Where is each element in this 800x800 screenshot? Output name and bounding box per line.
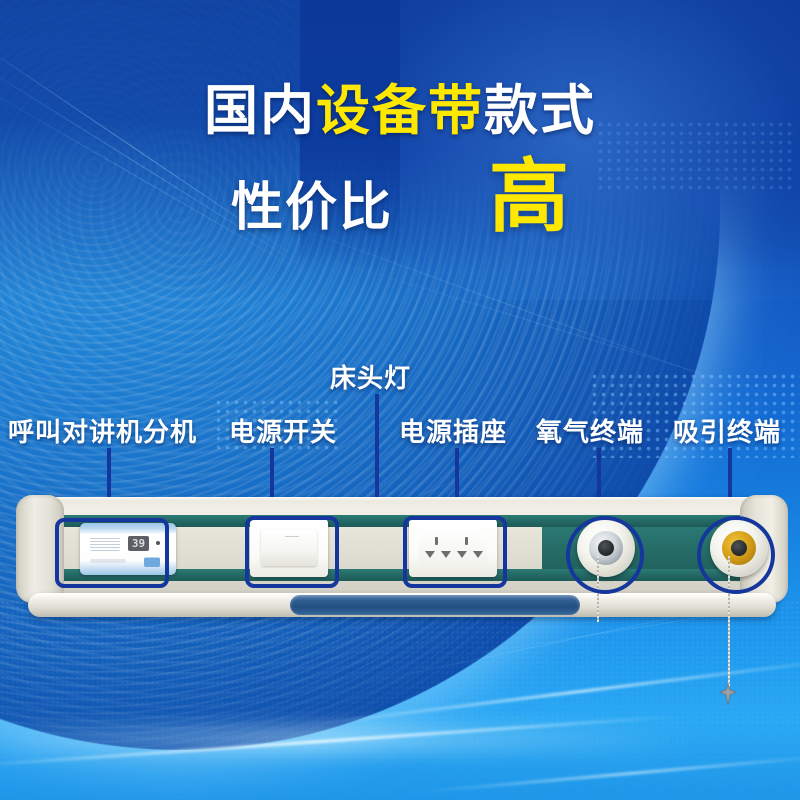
bed-lamp-diffuser: [290, 595, 580, 615]
headline-subtitle: 性价比: [231, 182, 393, 234]
callout-intercom-label: 呼叫对讲机分机: [8, 412, 197, 449]
headline-line-1: 国内 设备带 款式: [0, 84, 800, 138]
headline-line-2: 性价比 高: [0, 160, 800, 234]
suction-jar-hook-icon: [719, 684, 737, 706]
callout-suction-label: 吸引终端: [673, 412, 781, 449]
callout-power-socket-label: 电源插座: [399, 412, 507, 449]
highlight-box-suction: [697, 516, 775, 594]
highlight-box-power-switch: [245, 516, 339, 588]
headline-word-3: 款式: [484, 84, 596, 138]
highlight-box-oxygen: [566, 516, 644, 594]
highlight-box-power-socket: [403, 516, 507, 588]
callout-power-switch-label: 电源开关: [229, 412, 337, 449]
headline-word-2: 设备带: [316, 84, 484, 138]
headline-emphasis: 高: [489, 160, 569, 234]
headline-word-1: 国内: [204, 84, 316, 138]
callout-bed-lamp-label: 床头灯: [330, 358, 411, 395]
highlight-box-intercom: [55, 518, 169, 588]
callout-oxygen-label: 氧气终端: [536, 412, 644, 449]
promo-banner: 国内 设备带 款式 性价比 高 呼叫对讲机分机 电源开关 床头灯 电源插座 氧气…: [0, 0, 800, 800]
